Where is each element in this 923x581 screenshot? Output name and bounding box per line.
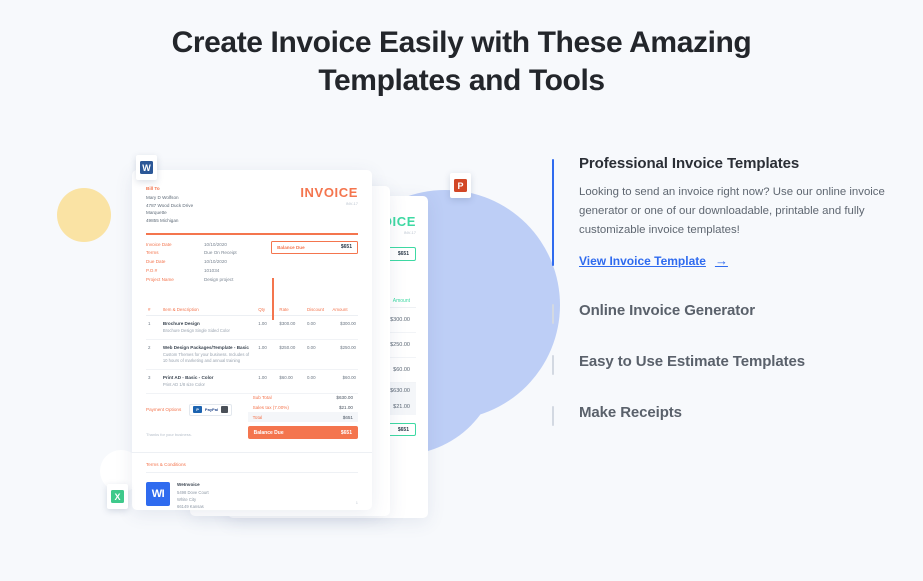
cell-rate: $250.00 <box>277 340 305 370</box>
invoice-vertical-rule <box>272 278 273 320</box>
meta-value: 10/10/2020 <box>204 241 227 250</box>
invoice-meta-row: Terms Due On Receipt <box>146 249 267 258</box>
total-key: Total <box>253 415 263 420</box>
excel-file-icon[interactable]: X <box>107 484 128 509</box>
total-row: Total $651 <box>248 412 358 422</box>
view-invoice-template-link[interactable]: View Invoice Template → <box>579 253 728 268</box>
accordion-item-professional-invoice-templates[interactable]: Professional Invoice Templates Looking t… <box>552 155 892 270</box>
footer-divider <box>132 452 372 453</box>
total-key: Sales tax (7.00%) <box>253 405 289 410</box>
bill-to-line: 4787 Wood Duck Drive <box>146 202 193 210</box>
cell-item: Brochure Design Brochure Design Single S… <box>161 316 256 340</box>
cell-rate: $300.00 <box>277 316 305 340</box>
terms-rule <box>146 472 358 473</box>
cell-discount: 0.00 <box>305 370 330 394</box>
accordion-title: Online Invoice Generator <box>579 302 892 319</box>
cell-rate: $60.00 <box>277 370 305 394</box>
accordion-idle-bar <box>552 406 554 426</box>
total-due-label: Balance Due <box>254 430 284 436</box>
invoice-meta-list: Invoice Date 10/10/2020 Terms Due On Rec… <box>146 241 267 285</box>
invoice-divider <box>146 233 358 234</box>
cell-item: Print AD - Basic - Color Print AD 1/8 si… <box>161 370 256 394</box>
total-balance-due: Balance Due $651 <box>248 426 358 439</box>
balance-due-box: Balance Due $651 <box>271 241 358 254</box>
total-value: $630.00 <box>336 395 353 400</box>
footer-company: WeInvoice <box>177 482 209 487</box>
bill-to-line: Mary D Wolfson <box>146 194 193 202</box>
cell-discount: 0.00 <box>305 316 330 340</box>
meta-key: Project Name <box>146 276 204 285</box>
table-row: 3 Print AD - Basic - Color Print AD 1/8 … <box>146 370 358 394</box>
accordion-title: Make Receipts <box>579 404 892 421</box>
accordion-idle-bar <box>552 304 554 324</box>
terms-label: Terms & Conditions <box>146 462 186 467</box>
decorative-yellow-circle <box>57 188 111 242</box>
powerpoint-icon-letter: P <box>454 179 467 192</box>
invoice-totals: Sub Total $630.00 Sales tax (7.00%) $21.… <box>248 392 358 439</box>
accordion-title: Professional Invoice Templates <box>579 155 892 172</box>
word-icon-letter: W <box>140 161 153 174</box>
table-row: 1 Brochure Design Brochure Design Single… <box>146 316 358 340</box>
accordion-item-make-receipts[interactable]: Make Receipts <box>552 404 892 421</box>
meta-value: Due On Receipt <box>204 249 237 258</box>
cell-index: 2 <box>146 340 161 370</box>
cell-amount: $60.00 <box>330 370 358 394</box>
col-rate: Rate <box>277 304 305 316</box>
accordion-item-online-invoice-generator[interactable]: Online Invoice Generator <box>552 302 892 319</box>
footer-address-line: 66149 Kansas <box>177 503 209 510</box>
paypal-badge[interactable]: P PayPal <box>189 404 232 416</box>
invoice-meta-row: Invoice Date 10/10/2020 <box>146 241 267 250</box>
item-description: Print AD 1/8 size Color <box>163 382 254 388</box>
total-value: $651 <box>343 415 353 420</box>
excel-icon-body: X <box>107 484 128 509</box>
bill-to-line: Marquette <box>146 209 193 217</box>
meta-key: P.O.# <box>146 267 204 276</box>
paypal-label: PayPal <box>205 407 218 412</box>
landing-page: Create Invoice Easily with These Amazing… <box>0 0 923 581</box>
feature-accordion: Professional Invoice Templates Looking t… <box>552 155 892 421</box>
footer-address-block: WeInvoice 5498 Dove Court White City 661… <box>177 482 209 510</box>
cell-qty: 1.00 <box>256 370 277 394</box>
balance-due-label: Balance Due <box>277 245 305 250</box>
item-name: Web Design Packages/Template - Basic <box>163 345 254 350</box>
item-description: Custom Themes for your business. Include… <box>163 352 254 365</box>
link-label: View Invoice Template <box>579 254 706 268</box>
accordion-item-easy-to-use-estimate-templates[interactable]: Easy to Use Estimate Templates <box>552 353 892 370</box>
bill-to-block: Bill To Mary D Wolfson 4787 Wood Duck Dr… <box>146 186 193 224</box>
footer-address-line: 5498 Dove Court <box>177 489 209 496</box>
invoice-meta-row: P.O.# 101034 <box>146 267 267 276</box>
accordion-active-bar <box>552 159 554 266</box>
invoice-preview-card[interactable]: Bill To Mary D Wolfson 4787 Wood Duck Dr… <box>132 170 372 510</box>
col-discount: Discount <box>305 304 330 316</box>
payment-options-label: Payment Options <box>146 407 181 412</box>
accordion-idle-bar <box>552 355 554 375</box>
footer-address-line: White City <box>177 496 209 503</box>
invoice-meta-row: Due Date 10/10/2020 <box>146 258 267 267</box>
arrow-right-icon: → <box>715 253 728 268</box>
meta-key: Due Date <box>146 258 204 267</box>
invoice-number: INV-17 <box>300 201 358 206</box>
powerpoint-file-icon[interactable]: P <box>450 173 471 198</box>
bill-to-label: Bill To <box>146 186 193 191</box>
cell-qty: 1.00 <box>256 340 277 370</box>
col-item: Item & Description <box>161 304 256 316</box>
invoice-title-block: INVOICE INV-17 <box>300 186 358 206</box>
item-description: Brochure Design Single Sided Color <box>163 328 254 334</box>
cell-amount: $300.00 <box>330 316 358 340</box>
cell-qty: 1.00 <box>256 316 277 340</box>
item-name: Print AD - Basic - Color <box>163 375 254 380</box>
col-amount: Amount <box>330 304 358 316</box>
powerpoint-icon-body: P <box>450 173 471 198</box>
weinvoice-logo: WI <box>146 482 170 506</box>
page-number: 1 <box>356 500 358 505</box>
meta-value: Design project <box>204 276 233 285</box>
cell-discount: 0.00 <box>305 340 330 370</box>
total-value: $21.00 <box>339 405 353 410</box>
accordion-title: Easy to Use Estimate Templates <box>579 353 892 370</box>
line-items-table: # Item & Description Qty Rate Discount A… <box>146 304 358 394</box>
table-row: 2 Web Design Packages/Template - Basic C… <box>146 340 358 370</box>
total-row: Sales tax (7.00%) $21.00 <box>248 402 358 412</box>
invoice-meta-section: Invoice Date 10/10/2020 Terms Due On Rec… <box>146 241 358 285</box>
thanks-note: Thanks for your business. <box>146 432 192 437</box>
balance-due-value: $651 <box>341 244 352 250</box>
meta-key: Terms <box>146 249 204 258</box>
cell-index: 1 <box>146 316 161 340</box>
meta-value: 101034 <box>204 267 219 276</box>
invoice-title: INVOICE <box>300 186 358 199</box>
page-title: Create Invoice Easily with These Amazing… <box>0 24 923 101</box>
cell-item: Web Design Packages/Template - Basic Cus… <box>161 340 256 370</box>
accordion-body: Looking to send an invoice right now? Us… <box>579 183 892 239</box>
table-header-row: # Item & Description Qty Rate Discount A… <box>146 304 358 316</box>
bill-to-line: 49855 Michigan <box>146 217 193 225</box>
item-name: Brochure Design <box>163 321 254 326</box>
word-file-icon[interactable]: W <box>136 155 157 180</box>
meta-value: 10/10/2020 <box>204 258 227 267</box>
invoice-document: Bill To Mary D Wolfson 4787 Wood Duck Dr… <box>132 170 372 510</box>
card-icon <box>221 406 228 413</box>
paypal-icon: P <box>193 406 202 413</box>
word-icon-body: W <box>136 155 157 180</box>
total-due-value: $651 <box>341 430 352 436</box>
cell-amount: $250.00 <box>330 340 358 370</box>
invoice-meta-row: Project Name Design project <box>146 276 267 285</box>
invoice-header: Bill To Mary D Wolfson 4787 Wood Duck Dr… <box>146 186 358 224</box>
total-row: Sub Total $630.00 <box>248 392 358 402</box>
col-index: # <box>146 304 161 316</box>
col-qty: Qty <box>256 304 277 316</box>
excel-icon-letter: X <box>111 490 124 503</box>
cell-index: 3 <box>146 370 161 394</box>
total-key: Sub Total <box>253 395 272 400</box>
invoice-footer: WI WeInvoice 5498 Dove Court White City … <box>146 482 209 510</box>
meta-key: Invoice Date <box>146 241 204 250</box>
